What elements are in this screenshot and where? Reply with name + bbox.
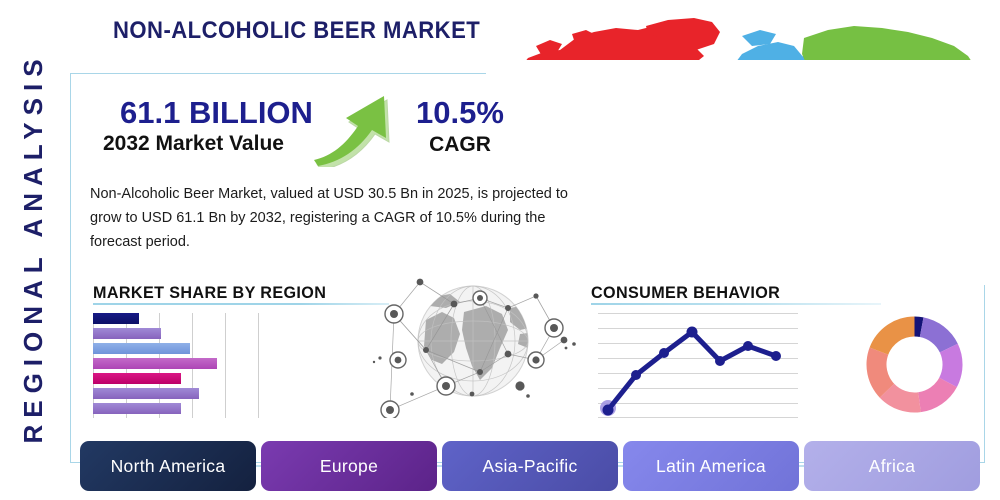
region-button-north-america[interactable]: North America	[80, 441, 256, 491]
bar-row	[93, 343, 190, 354]
bar-row	[93, 403, 181, 414]
kpi-market-value-number: 61.1 BILLION	[120, 95, 313, 131]
section-rule-market-share	[93, 303, 389, 305]
global-network-globe-icon	[368, 268, 578, 418]
side-label-regional-analysis: REGIONAL ANALYSIS	[18, 48, 58, 448]
line-chart-series	[598, 313, 798, 418]
region-button-latin-america[interactable]: Latin America	[623, 441, 799, 491]
region-button-asia-pacific[interactable]: Asia-Pacific	[442, 441, 618, 491]
region-button-africa[interactable]: Africa	[804, 441, 980, 491]
growth-arrow-icon	[310, 82, 400, 167]
line-chart-consumer-behavior	[598, 313, 798, 418]
section-heading-consumer-behavior: CONSUMER BEHAVIOR	[591, 283, 780, 303]
bar-chart-market-share	[93, 313, 293, 418]
region-button-row: North America Europe Asia-Pacific Latin …	[80, 441, 985, 491]
page-title: NON-ALCOHOLIC BEER MARKET	[113, 17, 480, 45]
kpi-cagr: 10.5% CAGR	[390, 95, 530, 170]
infographic-root: REGIONAL ANALYSIS NON-ALCOHOLIC BEER MAR…	[0, 0, 1000, 500]
bar-row	[93, 328, 161, 339]
kpi-cagr-label: CAGR	[390, 133, 530, 157]
section-rule-consumer-behavior	[591, 303, 881, 305]
region-button-label: North America	[111, 456, 226, 477]
bar-row	[93, 388, 199, 399]
region-button-label: Asia-Pacific	[482, 456, 577, 477]
bar-row	[93, 358, 217, 369]
kpi-cagr-number: 10.5%	[390, 95, 530, 131]
region-button-europe[interactable]: Europe	[261, 441, 437, 491]
donut-segment	[870, 317, 915, 355]
bar-row	[93, 313, 139, 324]
summary-paragraph: Non-Alcoholic Beer Market, valued at USD…	[90, 182, 590, 254]
bar-row	[93, 373, 181, 384]
donut-chart	[862, 312, 967, 417]
region-button-label: Latin America	[656, 456, 766, 477]
kpi-market-value-label: 2032 Market Value	[103, 132, 284, 156]
region-button-label: Africa	[869, 456, 916, 477]
region-button-label: Europe	[320, 456, 378, 477]
section-heading-market-share: MARKET SHARE BY REGION	[93, 283, 326, 303]
